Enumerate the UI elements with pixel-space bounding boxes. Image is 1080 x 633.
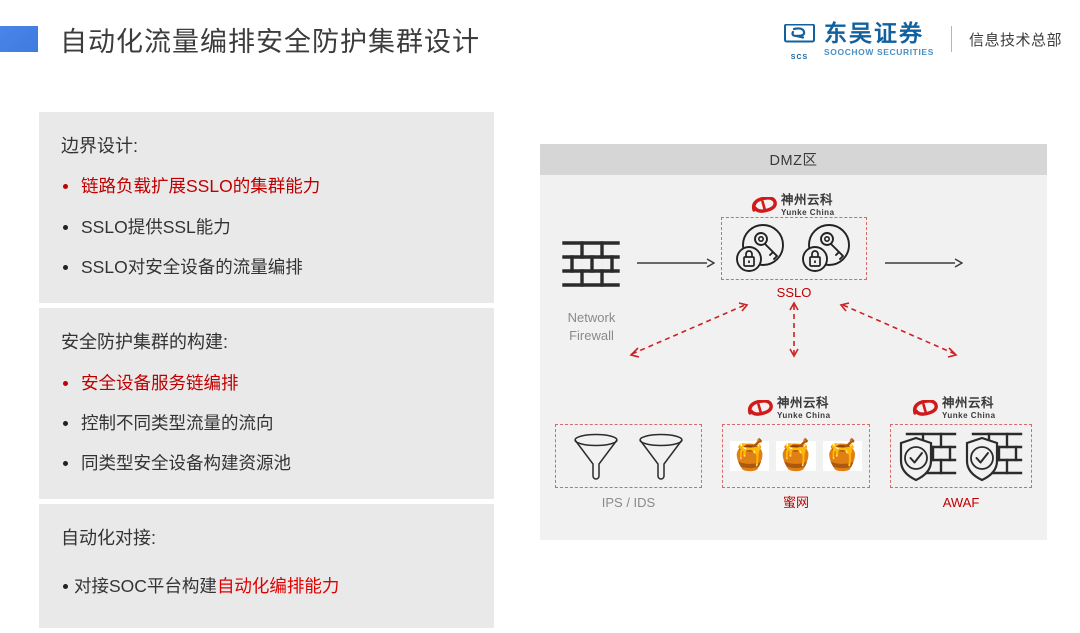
honey-pot-icon: 🍯 [730,441,769,471]
yunke-swoosh-icon [751,197,777,214]
flow-arrow-inbound-icon [637,257,715,269]
shield-wall-icon [965,429,1023,483]
vendor-name-en: Yunke China [942,412,996,420]
content-blocks: 边界设计: 链路负载扩展SSLO的集群能力 SSLO提供SSL能力 SSLO对安… [39,112,494,633]
honey-pot-icon: 🍯 [776,441,815,471]
bullet-label: 控制不同类型流量的流向 [81,410,274,436]
bullet-label: SSLO提供SSL能力 [81,214,231,240]
flow-arrow-outbound-icon [885,257,963,269]
brick-wall-icon [562,239,620,289]
vendor-logo-sslo: 神州云科 Yunke China [751,194,835,217]
block-title: 自动化对接: [39,518,494,558]
service-chain-arrows [540,299,1047,409]
brand-name-zh: 东吴证券 [824,22,934,45]
bullet-label-plain: 对接SOC平台构建 [74,576,217,596]
vendor-name-zh: 神州云科 [942,397,996,410]
bullet-dot-icon [63,421,68,426]
bullet-item: 安全设备服务链编排 [39,363,494,403]
bullet-label: SSLO对安全设备的流量编排 [81,254,303,280]
awaf-icon-row [891,425,1031,487]
key-lock-icon [733,221,789,277]
vendor-name-zh: 神州云科 [777,397,831,410]
yunke-swoosh-icon [912,400,938,417]
vendor-name-en: Yunke China [781,209,835,217]
vendor-name-en: Yunke China [777,412,831,420]
block-title: 边界设计: [39,126,494,166]
bullet-item: 同类型安全设备构建资源池 [39,443,494,483]
honeynet-icon-row: 🍯 🍯 🍯 [723,425,869,487]
title-accent-bar [0,26,38,52]
bullet-label: 安全设备服务链编排 [81,370,239,396]
bullet-item: 对接SOC平台构建自动化编排能力 [39,559,494,606]
soochow-mark-abbr: SCS [784,54,815,61]
awaf-label: AWAF [890,494,1032,512]
architecture-diagram: DMZ区 Network Firewall [540,144,1047,540]
key-lock-icon [799,221,855,277]
bullet-item: 链路负载扩展SSLO的集群能力 [39,166,494,206]
page-header: 自动化流量编排安全防护集群设计 SCS 东吴证券 SOOCHOW SECURIT… [0,0,1080,80]
honey-pot-icon: 🍯 [823,441,862,471]
arrow-sslo-to-ips-icon [632,305,745,354]
brand-department: 信息技术总部 [969,29,1062,50]
content-block-automation: 自动化对接: 对接SOC平台构建自动化编排能力 [39,504,494,628]
firewall-node [562,239,620,294]
ips-ids-node [555,424,702,488]
bullet-dot-icon [63,381,68,386]
arrow-sslo-to-awaf-icon [843,305,955,354]
brand-name-en: SOOCHOW SECURITIES [824,48,934,57]
ips-ids-label: IPS / IDS [555,494,702,512]
soochow-mark-icon: SCS [784,24,815,55]
bullet-item: SSLO提供SSL能力 [39,207,494,247]
bullet-dot-icon [63,265,68,270]
bullet-dot-icon [63,225,68,230]
honeynet-label: 蜜网 [722,494,870,512]
vendor-name-zh: 神州云科 [781,194,835,207]
bullet-item: 控制不同类型流量的流向 [39,403,494,443]
vendor-logo-awaf: 神州云科 Yunke China [912,397,996,420]
company-logo: SCS 东吴证券 SOOCHOW SECURITIES 信息技术总部 [784,22,1062,57]
page-title: 自动化流量编排安全防护集群设计 [60,20,480,59]
awaf-node [890,424,1032,488]
funnel-icon [637,431,685,481]
shield-wall-icon [899,429,957,483]
block-title: 安全防护集群的构建: [39,322,494,362]
bullet-dot-icon [63,461,68,466]
brand-divider [951,26,952,52]
ips-ids-icon-row [556,425,701,487]
bullet-label: 同类型安全设备构建资源池 [81,450,291,476]
bullet-label-highlight: 自动化编排能力 [217,576,340,596]
content-block-boundary-design: 边界设计: 链路负载扩展SSLO的集群能力 SSLO提供SSL能力 SSLO对安… [39,112,494,303]
bullet-item: SSLO对安全设备的流量编排 [39,247,494,287]
bullet-dot-icon [63,184,68,189]
sslo-node [721,217,867,280]
honeynet-node: 🍯 🍯 🍯 [722,424,870,488]
bullet-label: 链路负载扩展SSLO的集群能力 [81,173,320,199]
funnel-icon [572,431,620,481]
bullet-label: 对接SOC平台构建自动化编排能力 [74,573,339,599]
sslo-icon-row [722,218,866,279]
yunke-swoosh-icon [747,400,773,417]
dmz-zone-label: DMZ区 [770,149,818,170]
vendor-logo-honeynet: 神州云科 Yunke China [747,397,831,420]
content-block-cluster-construction: 安全防护集群的构建: 安全设备服务链编排 控制不同类型流量的流向 同类型安全设备… [39,308,494,499]
bullet-dot-icon [63,584,68,589]
dmz-zone-header: DMZ区 [540,144,1047,175]
